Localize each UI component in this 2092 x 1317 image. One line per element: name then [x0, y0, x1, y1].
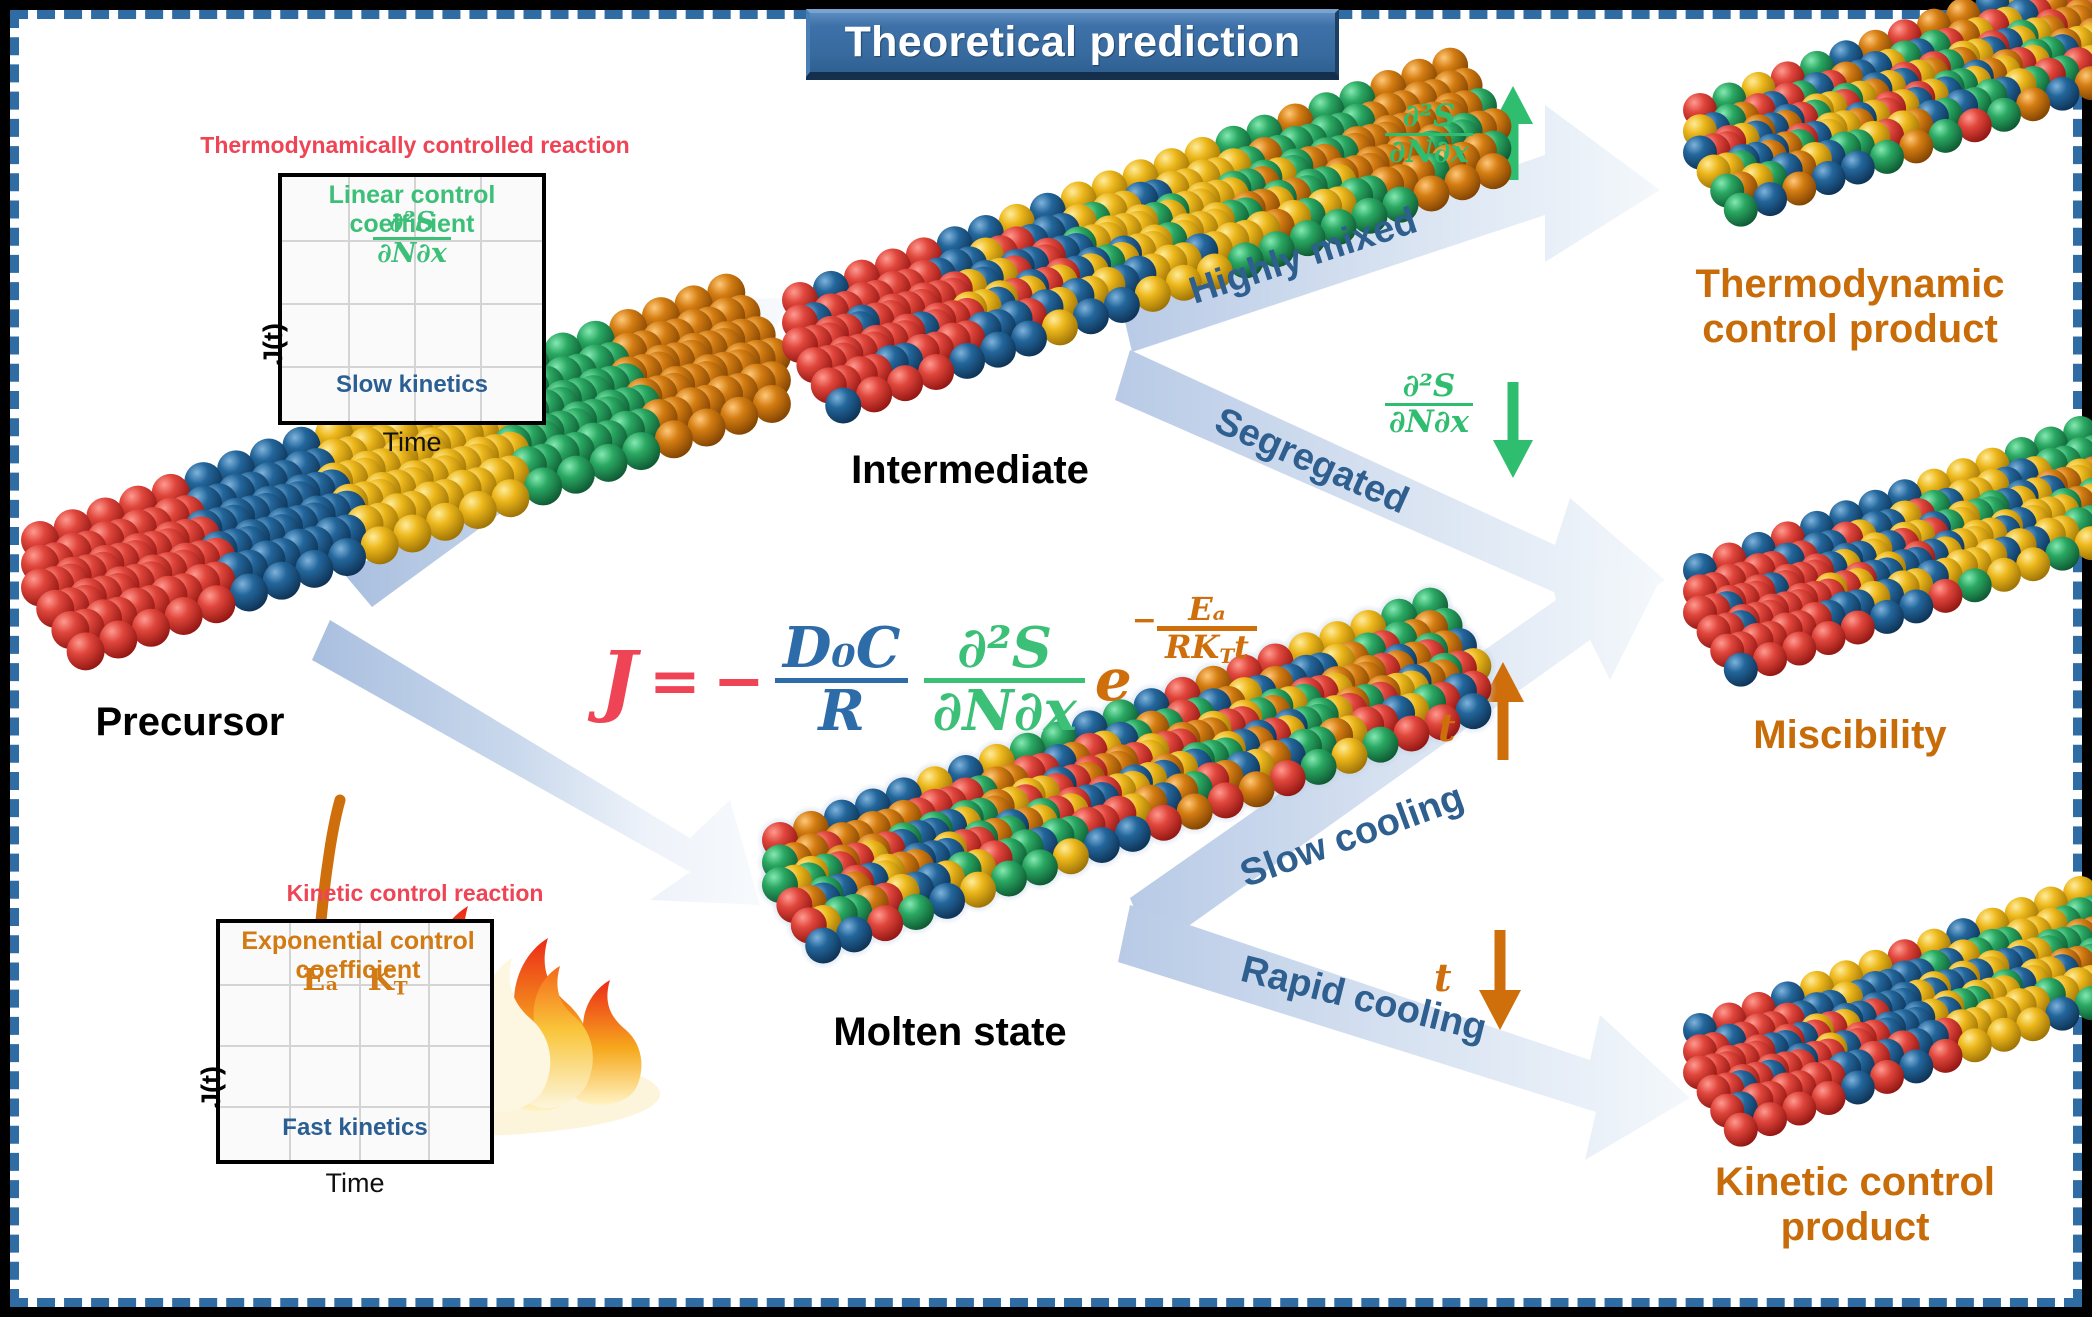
atom-sphere-blue	[1724, 653, 1758, 687]
atom-sphere-green	[557, 456, 595, 494]
atom-sphere-blue	[805, 927, 841, 963]
product-label-kinetic-line1: Kinetic control	[1620, 1160, 2090, 1205]
product-label-kinetic: Kinetic control product	[1620, 1160, 2090, 1250]
atom-sphere-blue	[1455, 693, 1491, 729]
equation-frac1-denominator: R	[775, 678, 909, 740]
atom-sphere-blue	[1870, 600, 1904, 634]
atom-sphere-green	[1928, 119, 1962, 153]
cluster-slab	[1683, 813, 2092, 1147]
atom-sphere-red	[1928, 579, 1962, 613]
inset-kinetic-plot: Exponential control coefficient Eₐ KT Fa…	[216, 919, 494, 1164]
cluster-label-molten: Molten state	[740, 1010, 1160, 1055]
product-label-thermodynamic-line1: Thermodynamic	[1615, 262, 2085, 307]
atom-sphere-green	[1870, 140, 1904, 174]
atom-sphere-green	[898, 894, 934, 930]
cluster-slab	[1683, 0, 2092, 227]
atom-sphere-green	[1987, 98, 2021, 132]
atom-sphere-yellow	[1042, 309, 1078, 345]
atom-sphere-green	[1724, 193, 1758, 227]
atom-sphere-red	[1753, 642, 1787, 676]
equation-frac2-numerator: ∂²S	[924, 620, 1084, 677]
atom-sphere-yellow	[2016, 547, 2050, 581]
equation-minus: −	[713, 644, 765, 717]
atom-sphere-red	[1393, 715, 1429, 751]
atom-sphere-yellow	[960, 872, 996, 908]
inset-thermodynamic-ylabel: J(t)	[258, 323, 289, 365]
atom-sphere-yellow	[459, 491, 497, 529]
annotation-entropy-up-den: ∂N∂x	[1385, 133, 1473, 169]
atom-sphere-yellow	[361, 526, 399, 564]
annotation-entropy-down-den: ∂N∂x	[1385, 403, 1473, 439]
inset-kinetic-xlabel: Time	[216, 1168, 494, 1199]
page-title: Theoretical prediction	[845, 18, 1301, 67]
atom-sphere-yellow	[426, 503, 464, 541]
inset-thermodynamic-kinetics-note: Slow kinetics	[282, 371, 542, 399]
atom-sphere-green	[589, 444, 627, 482]
atom-sphere-blue	[929, 883, 965, 919]
atom-sphere-blue	[328, 538, 366, 576]
atom-sphere-red	[1958, 108, 1992, 142]
atom-sphere-yellow	[491, 479, 529, 517]
atom-sphere-red	[1870, 1060, 1904, 1094]
inset-kinetic: Kinetic control reaction Exponential con…	[180, 880, 650, 1210]
atom-sphere-red	[1753, 1102, 1787, 1136]
atom-sphere-yellow	[1053, 838, 1089, 874]
atom-sphere-blue	[230, 573, 268, 611]
atom-sphere-red	[1782, 632, 1816, 666]
inset-thermodynamic: Thermodynamically controlled reaction Li…	[180, 132, 650, 442]
atom-sphere-red	[1208, 782, 1244, 818]
atom-sphere-blue	[1073, 298, 1109, 334]
atom-sphere-green	[1362, 727, 1398, 763]
coefficient-fraction-thermo: ∂²S ∂N∂x	[373, 209, 451, 269]
atom-sphere-blue	[949, 343, 985, 379]
atom-sphere-red	[1724, 1113, 1758, 1147]
atom-sphere-yellow	[1958, 1028, 1992, 1062]
atom-sphere-blue	[1899, 589, 1933, 623]
cluster-slab	[1683, 353, 2092, 687]
annotation-entropy-down: ∂²S ∂N∂x	[1385, 370, 1473, 438]
equation-frac2-denominator: ∂N∂x	[924, 678, 1084, 740]
product-label-miscibility: Miscibility	[1640, 713, 2060, 758]
atom-sphere-red	[1812, 621, 1846, 655]
atom-sphere-green	[524, 467, 562, 505]
atom-sphere-blue	[836, 916, 872, 952]
atom-sphere-red	[1146, 805, 1182, 841]
atom-sphere-yellow	[2016, 1007, 2050, 1041]
atom-sphere-orange	[1782, 172, 1816, 206]
equation-exponential-base: e	[1095, 646, 1132, 714]
atom-sphere-orange	[2016, 87, 2050, 121]
atom-sphere-blue	[1841, 1070, 1875, 1104]
annotation-time-up-symbol: t	[1438, 705, 1456, 750]
atom-sphere-green	[991, 861, 1027, 897]
atom-sphere-red	[1812, 1081, 1846, 1115]
equation-equals: =	[649, 644, 701, 717]
atom-sphere-red	[132, 609, 170, 647]
product-label-kinetic-line2: product	[1620, 1205, 2090, 1250]
atom-sphere-orange	[1413, 175, 1449, 211]
atom-sphere-red	[1782, 1092, 1816, 1126]
annotation-time-down-symbol: t	[1434, 955, 1452, 1000]
atom-sphere-blue	[980, 332, 1016, 368]
equation-fraction-diffusivity: D₀C R	[775, 620, 909, 739]
atom-sphere-yellow	[1987, 1018, 2021, 1052]
atom-sphere-blue	[1841, 150, 1875, 184]
coefficient-numerator: ∂²S	[373, 209, 451, 237]
atom-sphere-orange	[1239, 771, 1275, 807]
symbol-activation-energy: Eₐ	[302, 963, 339, 998]
equation-fraction-entropy: ∂²S ∂N∂x	[924, 620, 1084, 739]
equation-exponent-denominator: RKTt	[1157, 626, 1257, 666]
atom-sphere-blue	[1753, 182, 1787, 216]
cluster-label-precursor: Precursor	[0, 700, 380, 745]
atom-sphere-blue	[1115, 816, 1151, 852]
atom-sphere-red	[918, 354, 954, 390]
atom-sphere-blue	[825, 387, 861, 423]
coefficient-denominator: ∂N∂x	[373, 237, 451, 268]
equation-lhs: J	[600, 635, 637, 726]
governing-equation: J = − D₀C R ∂²S ∂N∂x e − Eₐ RKTt	[600, 585, 1360, 775]
cluster-label-intermediate: Intermediate	[770, 448, 1170, 493]
atom-sphere-blue	[2045, 997, 2079, 1031]
equation-exponent-minus: −	[1132, 603, 1157, 638]
atom-sphere-yellow	[1987, 558, 2021, 592]
atom-sphere-blue	[263, 562, 301, 600]
atom-sphere-blue	[1104, 287, 1140, 323]
atom-sphere-red	[867, 905, 903, 941]
atom-sphere-orange	[655, 420, 693, 458]
annotation-entropy-up: ∂²S ∂N∂x	[1385, 100, 1473, 168]
atom-sphere-red	[1928, 1039, 1962, 1073]
inset-kinetic-kinetics-note: Fast kinetics	[220, 1114, 490, 1142]
annotation-entropy-up-fraction: ∂²S ∂N∂x	[1385, 100, 1473, 168]
atom-sphere-red	[856, 376, 892, 412]
equation-exponent-numerator: Eₐ	[1157, 593, 1257, 626]
atom-sphere-blue	[1011, 321, 1047, 357]
atom-sphere-orange	[1475, 153, 1511, 189]
atom-sphere-orange	[1444, 164, 1480, 200]
annotation-entropy-down-fraction: ∂²S ∂N∂x	[1385, 370, 1473, 438]
product-label-thermodynamic-line2: control product	[1615, 307, 2085, 352]
atom-sphere-orange	[753, 385, 791, 423]
equation-frac1-numerator: D₀C	[775, 620, 909, 677]
product-label-thermodynamic: Thermodynamic control product	[1615, 262, 2085, 352]
atom-sphere-red	[165, 597, 203, 635]
atom-sphere-orange	[1899, 129, 1933, 163]
atom-sphere-red	[197, 585, 235, 623]
atom-sphere-blue	[295, 550, 333, 588]
atom-sphere-blue	[2045, 77, 2079, 111]
inset-thermodynamic-heading: Thermodynamically controlled reaction	[180, 132, 650, 159]
inset-kinetic-heading: Kinetic control reaction	[180, 880, 650, 907]
atom-sphere-green	[1958, 568, 1992, 602]
symbol-kt: KT	[368, 963, 408, 998]
inset-thermodynamic-plot: Linear control coefficient ∂²S ∂N∂x Slow…	[278, 173, 546, 425]
atom-sphere-yellow	[393, 515, 431, 553]
inset-kinetic-ylabel: J(t)	[196, 1066, 227, 1108]
annotation-entropy-up-num: ∂²S	[1385, 100, 1473, 133]
atom-sphere-red	[887, 365, 923, 401]
diagram-root: Theoretical prediction Thermodynamically…	[0, 0, 2092, 1317]
atom-sphere-green	[1022, 849, 1058, 885]
annotation-entropy-down-num: ∂²S	[1385, 370, 1473, 403]
atom-sphere-yellow	[1135, 276, 1171, 312]
atom-sphere-blue	[1899, 1049, 1933, 1083]
atom-sphere-red	[67, 632, 105, 670]
arrow-molten-to-kinetic	[1118, 905, 1690, 1160]
atom-sphere-orange	[1177, 794, 1213, 830]
atom-sphere-orange	[720, 397, 758, 435]
arrow-down-icon-segregated	[1493, 382, 1533, 478]
atom-sphere-blue	[1084, 827, 1120, 863]
page-title-banner: Theoretical prediction	[806, 9, 1339, 77]
equation-exponent-fraction: Eₐ RKTt	[1157, 593, 1257, 666]
atom-sphere-red	[99, 621, 137, 659]
atom-sphere-green	[2045, 537, 2079, 571]
inset-thermodynamic-xlabel: Time	[278, 427, 546, 458]
atom-sphere-orange	[688, 409, 726, 447]
atom-sphere-blue	[1812, 161, 1846, 195]
atom-sphere-red	[1841, 610, 1875, 644]
